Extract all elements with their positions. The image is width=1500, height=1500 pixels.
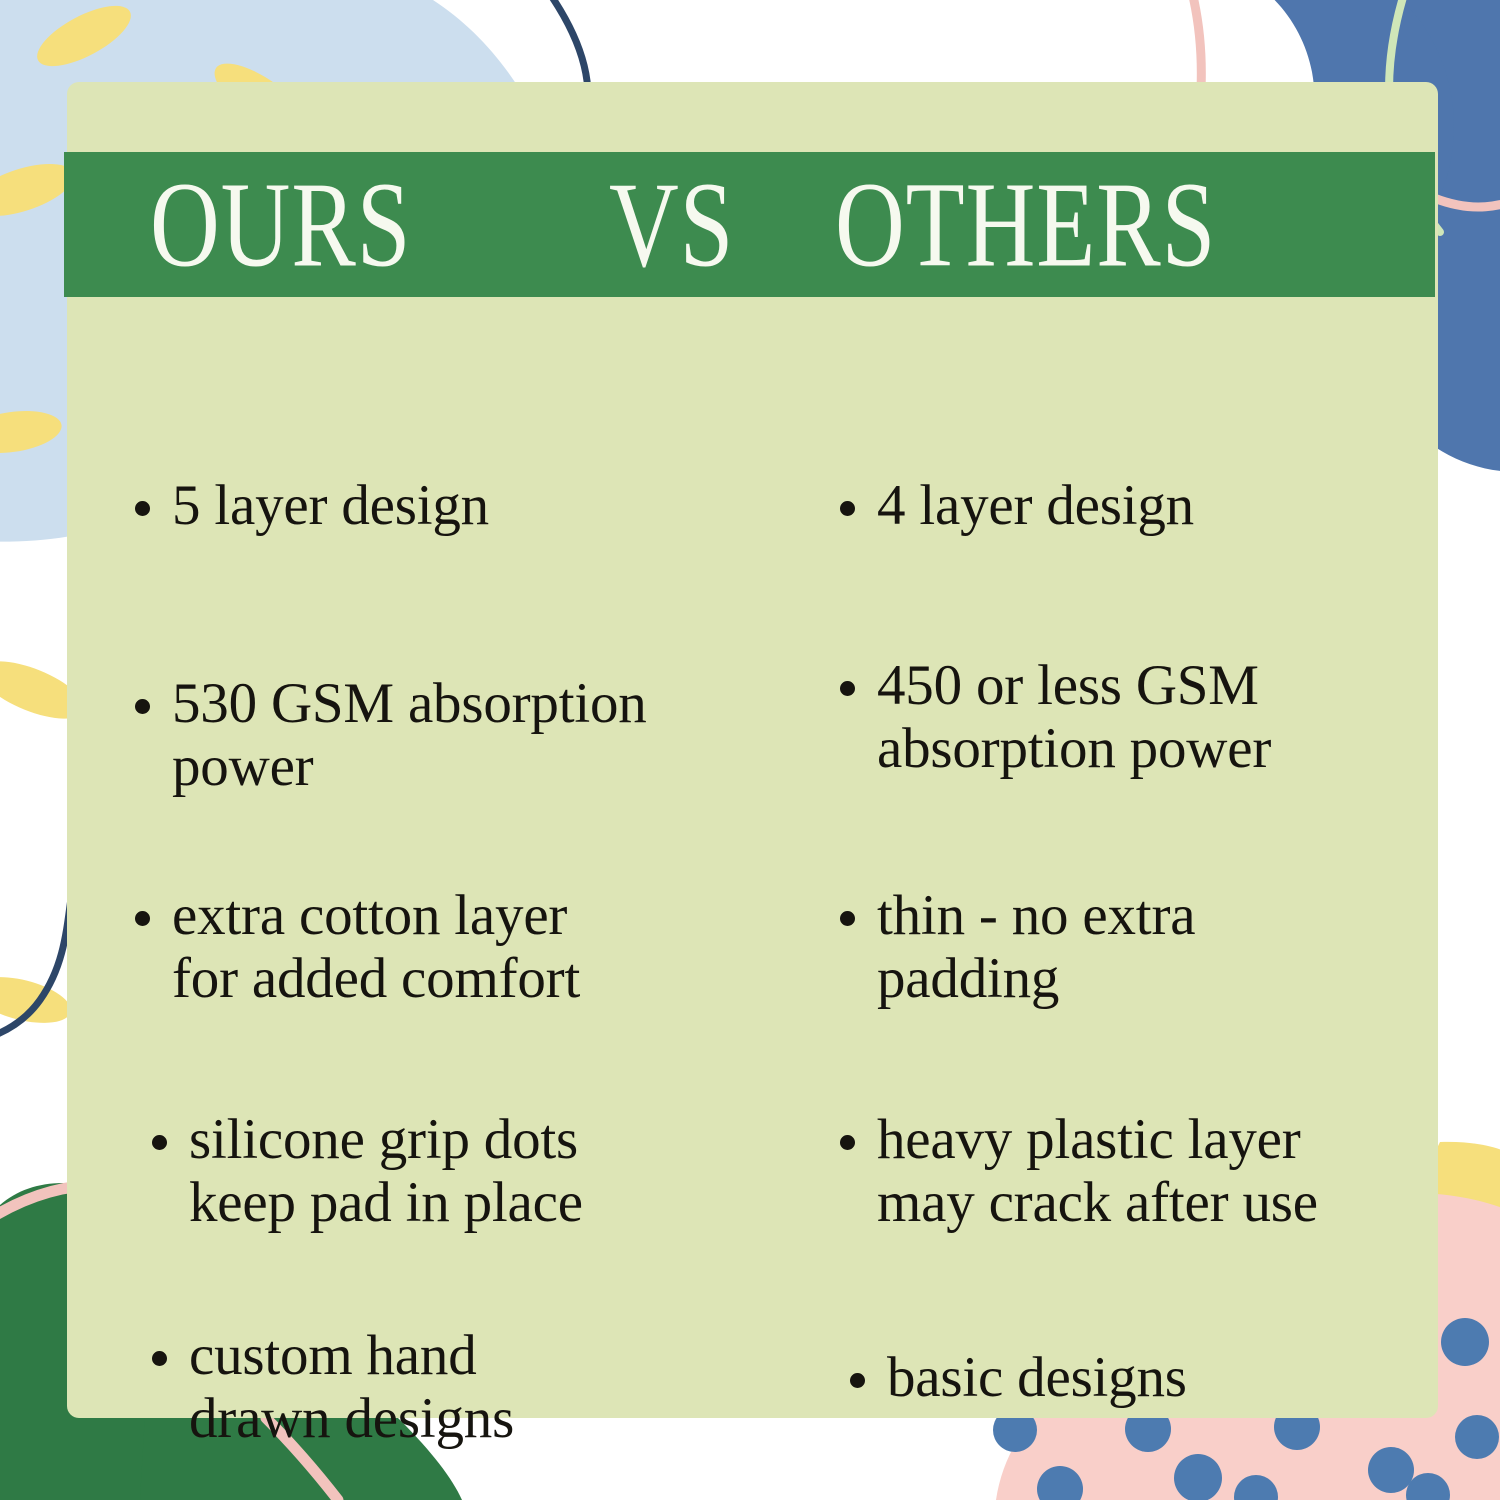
bullet-dot-icon: [135, 699, 150, 714]
bullet-dot-icon: [840, 501, 855, 516]
list-item: heavy plastic layer may crack after use: [840, 1109, 1318, 1234]
list-item: basic designs: [850, 1347, 1187, 1410]
list-item-label: thin - no extra padding: [877, 885, 1195, 1010]
list-item-label: 5 layer design: [172, 475, 489, 538]
list-item-label: silicone grip dots keep pad in place: [189, 1109, 583, 1234]
title-others: OTHERS: [835, 164, 1216, 286]
bullet-dot-icon: [840, 1135, 855, 1150]
bullet-dot-icon: [152, 1135, 167, 1150]
title-vs: VS: [609, 164, 734, 286]
list-item-label: 530 GSM absorption power: [172, 673, 647, 798]
list-item: thin - no extra padding: [840, 885, 1195, 1010]
list-item: 450 or less GSM absorption power: [840, 655, 1271, 780]
comparison-card: OURS VS OTHERS 5 layer design 530 GSM ab…: [67, 82, 1438, 1418]
comparison-columns: 5 layer design 530 GSM absorption power …: [67, 337, 1438, 1417]
bullet-dot-icon: [840, 681, 855, 696]
list-item: silicone grip dots keep pad in place: [152, 1109, 583, 1234]
bullet-dot-icon: [840, 911, 855, 926]
column-ours: 5 layer design 530 GSM absorption power …: [67, 337, 812, 1417]
list-item: 4 layer design: [840, 475, 1194, 538]
bullet-dot-icon: [152, 1351, 167, 1366]
list-item-label: heavy plastic layer may crack after use: [877, 1109, 1318, 1234]
bullet-dot-icon: [850, 1373, 865, 1388]
list-item-label: 4 layer design: [877, 475, 1194, 538]
list-item-label: extra cotton layer for added comfort: [172, 885, 580, 1010]
infographic-canvas: OURS VS OTHERS 5 layer design 530 GSM ab…: [0, 0, 1500, 1500]
title-ours: OURS: [150, 164, 411, 286]
list-item-label: basic designs: [887, 1347, 1187, 1410]
list-item: 5 layer design: [135, 475, 489, 538]
list-item: custom hand drawn designs: [152, 1325, 514, 1450]
list-item-label: 450 or less GSM absorption power: [877, 655, 1271, 780]
bullet-dot-icon: [135, 911, 150, 926]
list-item: 530 GSM absorption power: [135, 673, 647, 798]
column-others: 4 layer design 450 or less GSM absorptio…: [812, 337, 1438, 1417]
list-item: extra cotton layer for added comfort: [135, 885, 580, 1010]
title-band: OURS VS OTHERS: [64, 152, 1435, 297]
bullet-dot-icon: [135, 501, 150, 516]
list-item-label: custom hand drawn designs: [189, 1325, 514, 1450]
